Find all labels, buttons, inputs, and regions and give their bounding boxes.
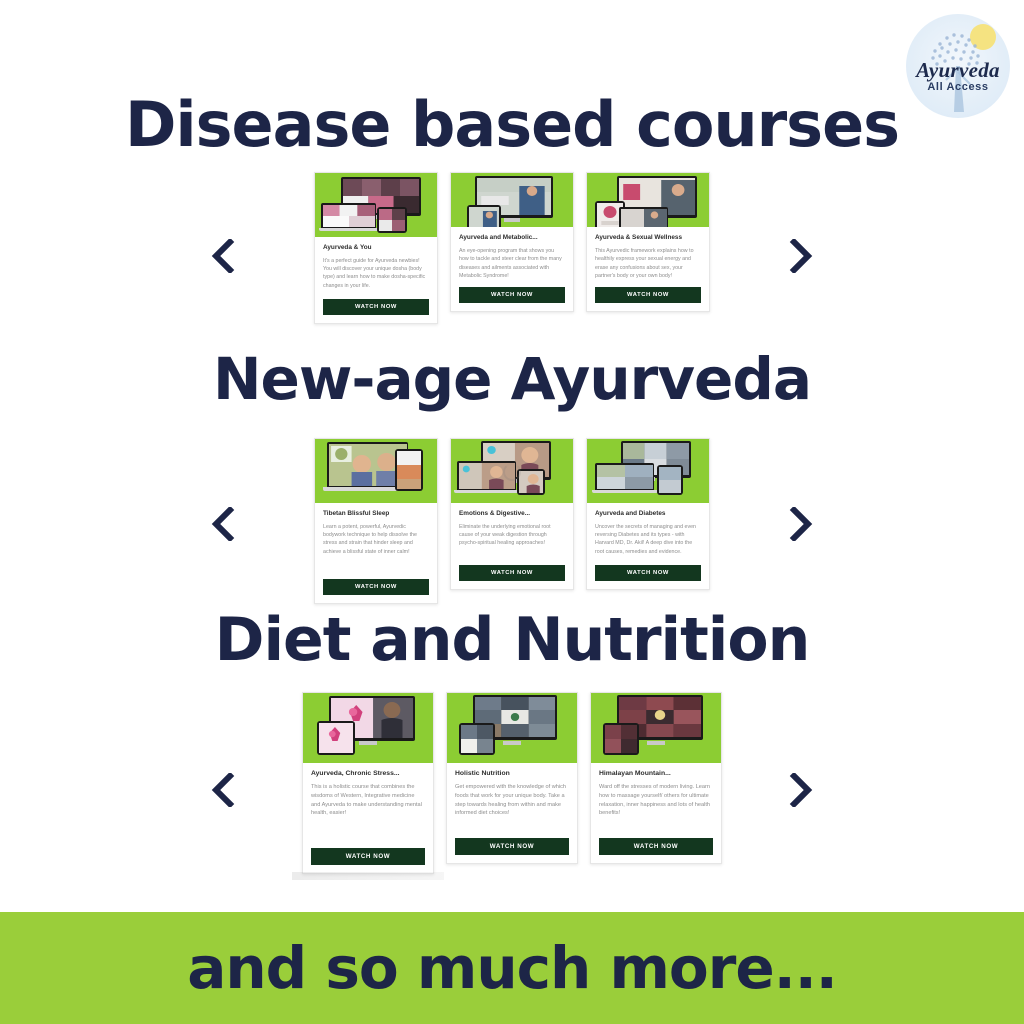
course-card-body: Ayurveda, Chronic Stress... This is a ho… (303, 763, 433, 873)
watch-now-button[interactable]: WATCH NOW (599, 838, 713, 855)
course-title: Tibetan Blissful Sleep (323, 510, 429, 518)
card-list: Tibetan Blissful Sleep Learn a potent, p… (314, 438, 710, 604)
course-card[interactable]: Holistic Nutrition Get empowered with th… (446, 692, 578, 864)
course-card-body: Ayurveda and Metabolic... An eye-opening… (451, 227, 573, 311)
carousel-next-icon[interactable] (778, 233, 824, 279)
watch-now-button[interactable]: WATCH NOW (455, 838, 569, 855)
course-thumbnail (587, 439, 709, 503)
course-card[interactable]: Tibetan Blissful Sleep Learn a potent, p… (314, 438, 438, 604)
course-thumbnail (315, 439, 437, 503)
course-description: Learn a potent, powerful, Ayurvedic body… (323, 523, 429, 572)
carousel-next-icon[interactable] (778, 767, 824, 813)
course-title: Ayurveda, Chronic Stress... (311, 770, 425, 778)
course-card[interactable]: Ayurveda and Diabetes Uncover the secret… (586, 438, 710, 590)
banner-text: and so much more... (187, 934, 837, 1002)
course-card-body: Holistic Nutrition Get empowered with th… (447, 763, 577, 863)
carousel-prev-icon[interactable] (200, 233, 246, 279)
watch-now-button[interactable]: WATCH NOW (459, 287, 565, 303)
course-card[interactable]: Himalayan Mountain... Ward off the stres… (590, 692, 722, 864)
poster-canvas: Ayurveda All Access Disease based course… (0, 0, 1024, 1024)
course-title: Himalayan Mountain... (599, 770, 713, 778)
watch-now-button[interactable]: WATCH NOW (323, 299, 429, 315)
course-card[interactable]: Ayurveda & You It's a perfect guide for … (314, 172, 438, 324)
watch-now-button[interactable]: WATCH NOW (595, 287, 701, 303)
carousel-prev-icon[interactable] (200, 767, 246, 813)
course-title: Ayurveda & Sexual Wellness (595, 234, 701, 242)
course-thumbnail (447, 693, 577, 763)
course-description: Eliminate the underlying emotional root … (459, 523, 565, 558)
course-title: Ayurveda and Metabolic... (459, 234, 565, 242)
course-card-body: Ayurveda & You It's a perfect guide for … (315, 237, 437, 323)
watch-now-button[interactable]: WATCH NOW (323, 579, 429, 595)
logo-brand-text: Ayurveda (906, 60, 1010, 81)
course-thumbnail (591, 693, 721, 763)
course-card[interactable]: Ayurveda & Sexual Wellness This Ayurvedi… (586, 172, 710, 312)
course-description: Get empowered with the knowledge of whic… (455, 783, 569, 831)
course-card[interactable]: Ayurveda, Chronic Stress... This is a ho… (302, 692, 434, 874)
section-heading-diet-and-nutrition: Diet and Nutrition (0, 605, 1024, 675)
course-description: Uncover the secrets of managing and even… (595, 523, 701, 558)
course-description: This is a holistic course that combines … (311, 783, 425, 841)
carousel-row-disease-based-courses: Ayurveda & You It's a perfect guide for … (0, 170, 1024, 342)
card-list: Ayurveda, Chronic Stress... This is a ho… (302, 692, 722, 874)
course-thumbnail (451, 439, 573, 503)
carousel-next-icon[interactable] (778, 501, 824, 547)
course-description: An eye-opening program that shows you ho… (459, 247, 565, 280)
course-description: It's a perfect guide for Ayurveda newbie… (323, 257, 429, 292)
section-heading-disease-based-courses: Disease based courses (0, 88, 1024, 161)
carousel-row-new-age-ayurveda: Tibetan Blissful Sleep Learn a potent, p… (0, 438, 1024, 610)
course-thumbnail (451, 173, 573, 227)
course-card[interactable]: Emotions & Digestive... Eliminate the un… (450, 438, 574, 590)
carousel-prev-icon[interactable] (200, 501, 246, 547)
course-title: Ayurveda & You (323, 244, 429, 252)
course-card-body: Ayurveda and Diabetes Uncover the secret… (587, 503, 709, 589)
carousel-row-diet-and-nutrition: Ayurveda, Chronic Stress... This is a ho… (0, 692, 1024, 887)
course-card-body: Emotions & Digestive... Eliminate the un… (451, 503, 573, 589)
course-thumbnail (303, 693, 433, 763)
course-description: This Ayurvedic framework explains how to… (595, 247, 701, 280)
course-card-body: Tibetan Blissful Sleep Learn a potent, p… (315, 503, 437, 603)
course-card-body: Ayurveda & Sexual Wellness This Ayurvedi… (587, 227, 709, 311)
loading-spinner-icon (503, 463, 521, 481)
watch-now-button[interactable]: WATCH NOW (595, 565, 701, 581)
course-title: Ayurveda and Diabetes (595, 510, 701, 518)
render-artifact-strip (292, 872, 444, 880)
card-list: Ayurveda & You It's a perfect guide for … (314, 172, 710, 324)
course-card[interactable]: Ayurveda and Metabolic... An eye-opening… (450, 172, 574, 312)
course-title: Holistic Nutrition (455, 770, 569, 778)
course-title: Emotions & Digestive... (459, 510, 565, 518)
course-thumbnail (315, 173, 437, 237)
bottom-banner: and so much more... (0, 912, 1024, 1024)
course-thumbnail (587, 173, 709, 227)
course-card-body: Himalayan Mountain... Ward off the stres… (591, 763, 721, 863)
course-description: Ward off the stresses of modern living. … (599, 783, 713, 831)
section-heading-new-age-ayurveda: New-age Ayurveda (0, 345, 1024, 413)
watch-now-button[interactable]: WATCH NOW (311, 848, 425, 865)
watch-now-button[interactable]: WATCH NOW (459, 565, 565, 581)
